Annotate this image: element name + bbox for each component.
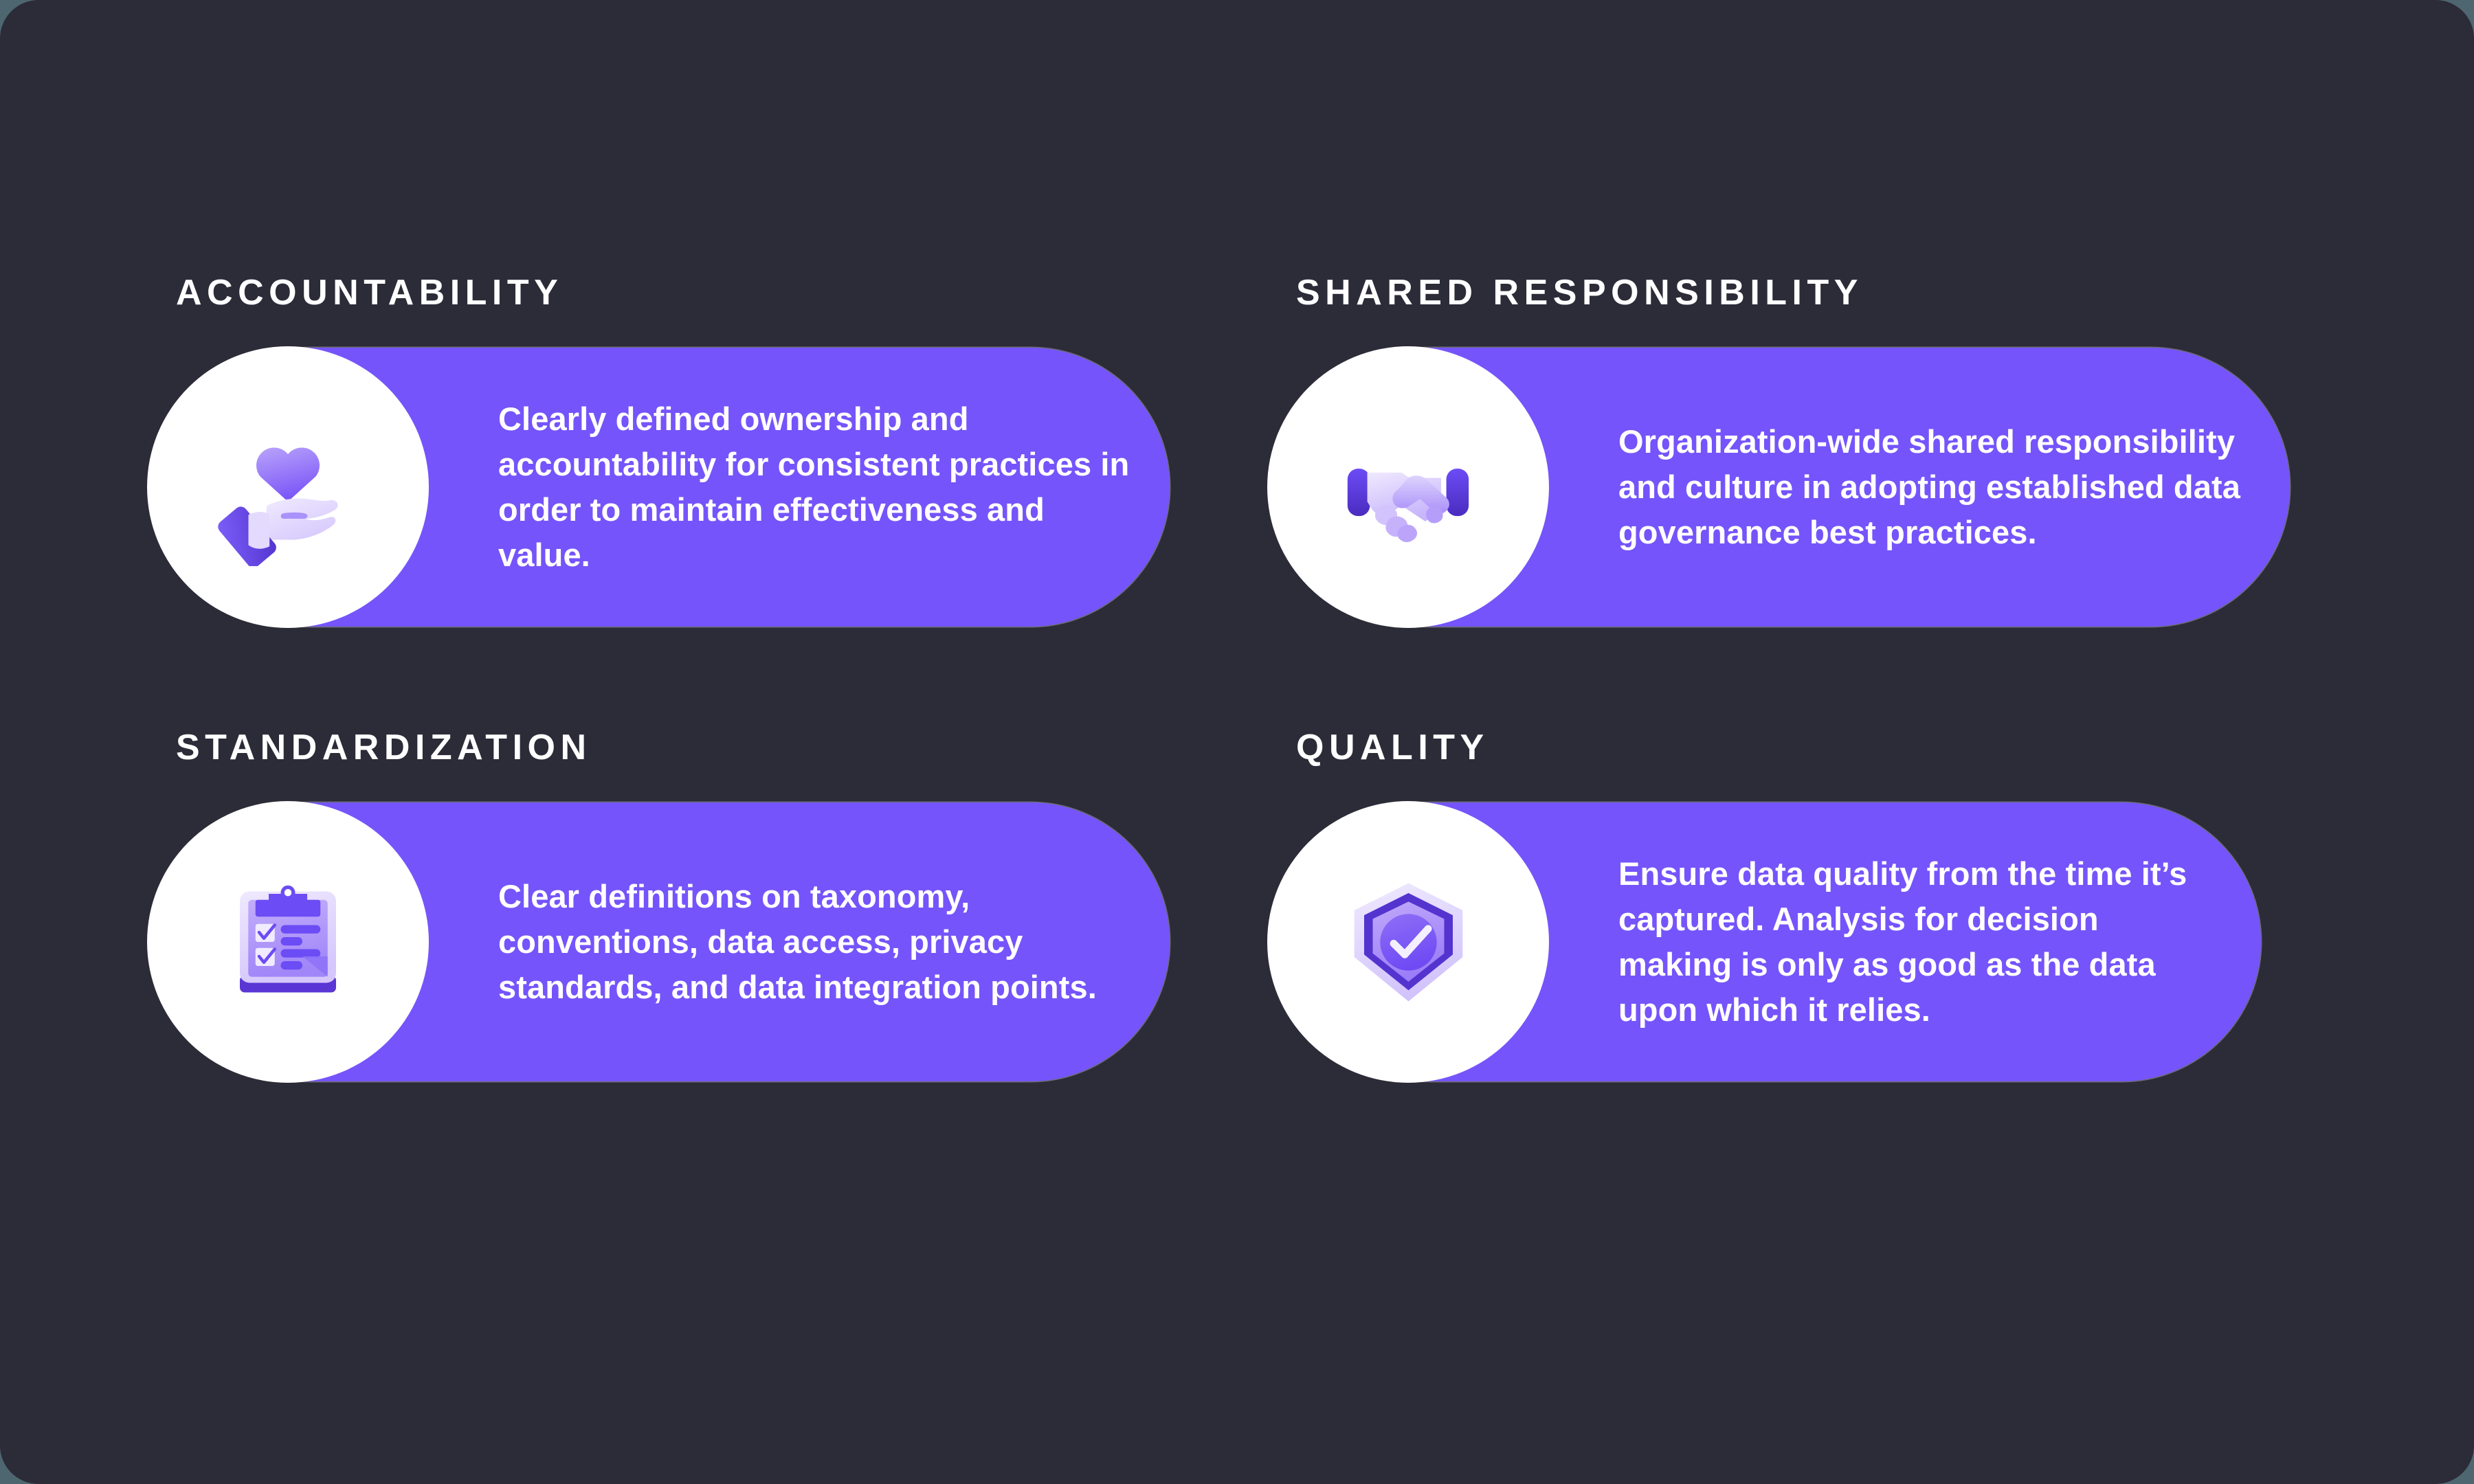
shield-check-icon xyxy=(1335,868,1482,1016)
card-pill-standardization: Clear definitions on taxonomy, conventio… xyxy=(172,802,1170,1081)
hand-holding-heart-icon xyxy=(209,408,367,566)
card-accountability: ACCOUNTABILITY xyxy=(172,275,1292,627)
card-title-accountability: ACCOUNTABILITY xyxy=(176,275,1292,311)
clipboard-checklist-icon xyxy=(216,870,360,1014)
handshake-icon xyxy=(1329,408,1487,566)
card-body-accountability: Clearly defined ownership and accountabi… xyxy=(498,396,1130,577)
icon-circle-standardization xyxy=(147,801,429,1083)
icon-circle-shared-responsibility xyxy=(1267,346,1549,628)
card-title-shared-responsibility: SHARED RESPONSIBILITY xyxy=(1296,275,2412,311)
card-body-shared-responsibility: Organization-wide shared responsibility … xyxy=(1618,419,2250,554)
card-body-standardization: Clear definitions on taxonomy, conventio… xyxy=(498,874,1130,1009)
card-body-quality: Ensure data quality from the time it’s c… xyxy=(1618,851,2221,1032)
card-pill-shared-responsibility: Organization-wide shared responsibility … xyxy=(1292,348,2290,627)
card-pill-accountability: Clearly defined ownership and accountabi… xyxy=(172,348,1170,627)
card-standardization: STANDARDIZATION xyxy=(172,730,1292,1081)
card-pill-quality: Ensure data quality from the time it’s c… xyxy=(1292,802,2261,1081)
card-shared-responsibility: SHARED RESPONSIBILITY xyxy=(1292,275,2412,627)
principles-grid: ACCOUNTABILITY xyxy=(172,275,2302,1081)
card-title-standardization: STANDARDIZATION xyxy=(176,730,1292,765)
card-quality: QUALITY xyxy=(1292,730,2412,1081)
icon-circle-quality xyxy=(1267,801,1549,1083)
infographic-page: ACCOUNTABILITY xyxy=(0,0,2474,1484)
card-title-quality: QUALITY xyxy=(1296,730,2412,765)
icon-circle-accountability xyxy=(147,346,429,628)
